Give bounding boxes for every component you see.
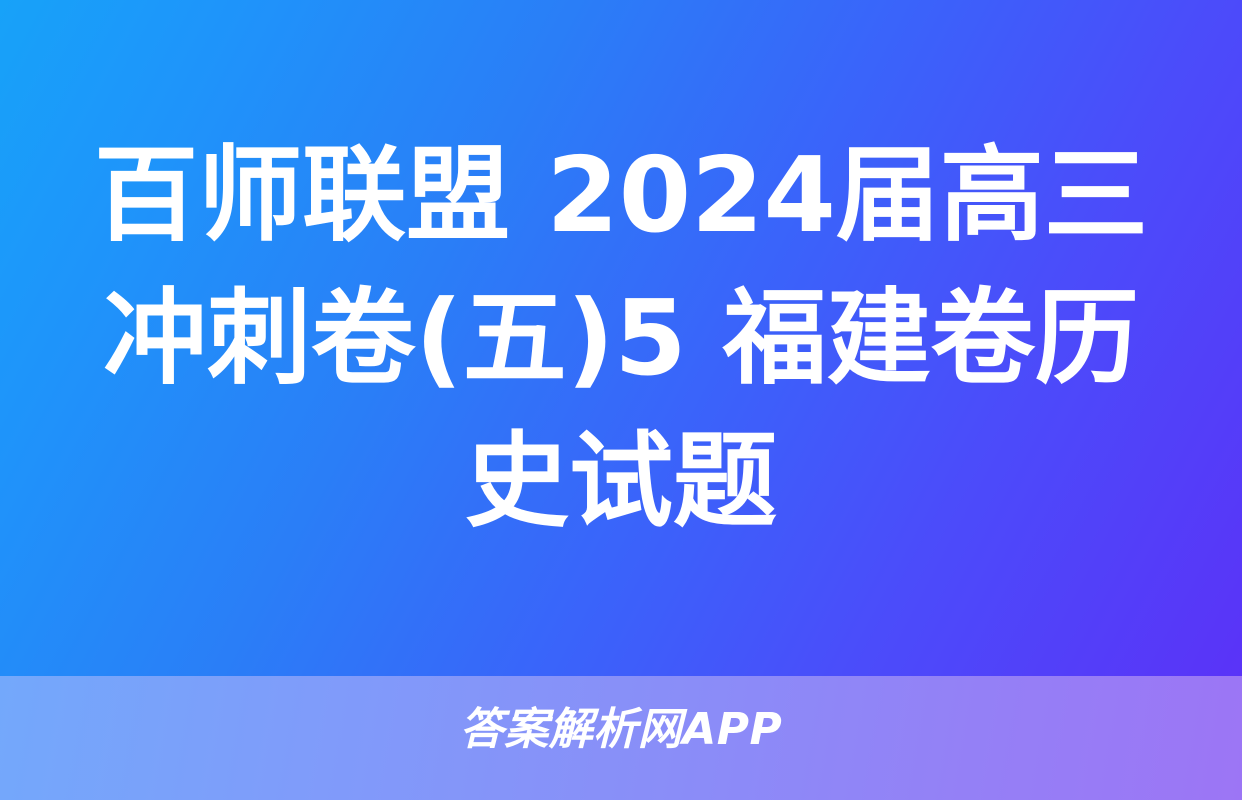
title-block: 百师联盟 2024届高三冲刺卷(五)5 福建卷历史试题 bbox=[0, 0, 1242, 676]
page-title: 百师联盟 2024届高三冲刺卷(五)5 福建卷历史试题 bbox=[52, 124, 1190, 553]
title-card: 百师联盟 2024届高三冲刺卷(五)5 福建卷历史试题 答案解析网APP bbox=[0, 0, 1242, 800]
watermark-label: 答案解析网APP bbox=[0, 704, 1242, 756]
